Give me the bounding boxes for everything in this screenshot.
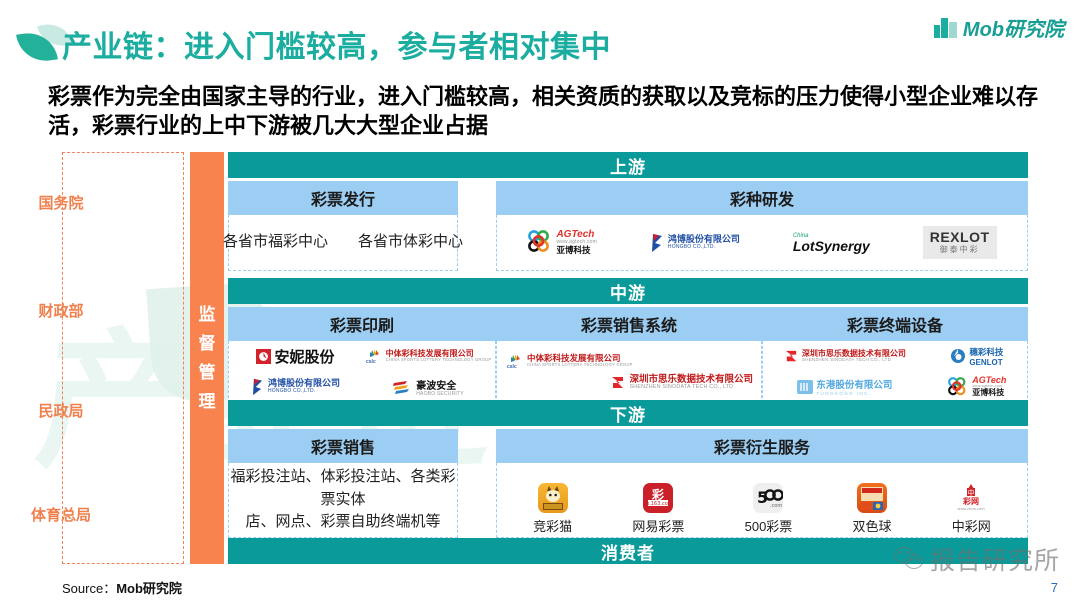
logo-cn-text: 安妮股份 bbox=[274, 346, 334, 367]
logo-en-text: SHENZHEN SINODATA TECH CO., LTD bbox=[802, 358, 906, 363]
svg-text:中: 中 bbox=[968, 488, 975, 497]
supervise-char-3: 管 bbox=[199, 364, 216, 381]
app-netease-lottery: 彩 cp.163.com 网易彩票 bbox=[632, 483, 684, 535]
gov-item-civil-affairs: 民政局 bbox=[0, 400, 122, 421]
supervision-bar: 监 督 管 理 bbox=[190, 152, 224, 564]
agtech-rings-icon bbox=[527, 230, 553, 254]
app-jingcaimao: 竞彩猫 bbox=[533, 483, 572, 535]
wechat-icon bbox=[894, 547, 924, 571]
panel-title: 彩票发行 bbox=[228, 181, 458, 215]
agtech-rings-icon bbox=[947, 377, 969, 397]
chain-columns: 上游 彩票发行 各省市福彩中心 各省市体彩中心 彩种研发 bbox=[228, 152, 1028, 564]
logo-agtech-terminal: AGTech www.agtech.com 亚博科技 bbox=[947, 376, 1006, 397]
logo-en-text: HONGBO CO.,LTD. bbox=[668, 245, 740, 250]
supervise-char-4: 理 bbox=[199, 393, 216, 410]
genlot-icon bbox=[950, 348, 966, 364]
svg-text:cslc: cslc bbox=[507, 364, 517, 369]
panel-title: 彩票销售 bbox=[228, 429, 458, 463]
logo-cn-text: LotSynergy bbox=[793, 239, 870, 253]
panel-lottery-issuance: 彩票发行 各省市福彩中心 各省市体彩中心 bbox=[228, 181, 458, 271]
logo-cn-text: 御泰中彩 bbox=[940, 244, 980, 255]
logo-tungkong: 东港股份有限公司 TUNGKONG INC. bbox=[797, 377, 892, 396]
tungkong-icon bbox=[797, 380, 813, 394]
logo-cn-text: 豪波安全 bbox=[416, 377, 464, 392]
logo-cn-text: 穗彩科技 bbox=[969, 346, 1003, 358]
panel-lottery-sales: 彩票销售 福彩投注站、体彩投注站、各类彩票实体 店、网点、彩票自助终端机等 bbox=[228, 429, 458, 538]
panel-game-rnd: 彩种研发 AGTech www.agte bbox=[496, 181, 1028, 271]
logo-haobo: 豪波安全 HAOBO SECURITY bbox=[393, 377, 464, 397]
government-bodies-box bbox=[62, 152, 184, 564]
wechat-watermark: 报告研究所 bbox=[894, 541, 1060, 577]
brand-logo: Mob研究院 bbox=[934, 12, 1064, 42]
logo-annie: 安妮股份 bbox=[256, 346, 334, 367]
app-label: 500彩票 bbox=[745, 516, 793, 535]
panel-title: 彩票衍生服务 bbox=[496, 429, 1028, 463]
source-label: Source： bbox=[62, 581, 116, 596]
mob-bar-logo-icon bbox=[934, 16, 958, 38]
zhongcaiwang-app-icon: 中 彩网 www.zhcw.com bbox=[956, 483, 986, 513]
haobo-icon bbox=[393, 379, 413, 395]
logo-en-text: REXLOT bbox=[930, 230, 990, 245]
logo-agtech: AGTech www.agtech.com 亚博科技 bbox=[527, 230, 597, 254]
hongbo-flag-icon bbox=[650, 232, 665, 254]
500-lottery-app-icon: 5 .com bbox=[753, 483, 783, 513]
band-upstream: 上游 bbox=[228, 152, 1028, 178]
brand-name: Mob研究院 bbox=[963, 13, 1064, 42]
issuance-item-welfare: 各省市福彩中心 bbox=[223, 231, 328, 254]
leaf-decoration-icon bbox=[18, 24, 64, 58]
app-zhongcaiwang: 中 彩网 www.zhcw.com 中彩网 bbox=[952, 483, 991, 535]
sales-line-2: 店、网点、彩票自助终端机等 bbox=[229, 511, 457, 534]
app-label: 双色球 bbox=[853, 516, 892, 535]
hongbo-flag-icon bbox=[251, 377, 265, 397]
sinodata-icon bbox=[784, 349, 799, 364]
svg-text:彩网: 彩网 bbox=[962, 496, 979, 506]
logo-cslc-printing: cslc 中体彩科技发展有限公司 CHINA SPORTS LOTTERY TE… bbox=[366, 348, 492, 364]
logo-sinodata-system: 深圳市思乐数据技术有限公司 SHENZHEN SINODATA TECH CO.… bbox=[610, 375, 753, 391]
netease-lottery-app-icon: 彩 cp.163.com bbox=[643, 483, 673, 513]
app-label: 中彩网 bbox=[952, 516, 991, 535]
svg-text:.com: .com bbox=[770, 503, 782, 509]
source-value: Mob研究院 bbox=[116, 581, 182, 596]
app-500-lottery: 5 .com 500彩票 bbox=[745, 483, 793, 535]
svg-text:cp.163.com: cp.163.com bbox=[644, 501, 673, 507]
panel-sales-system: 彩票销售系统 cslc 中体彩科技发展有限公司 CHINA SP bbox=[496, 307, 762, 403]
page-number: 7 bbox=[1051, 580, 1058, 595]
logo-cn-text: 亚博科技 bbox=[556, 246, 597, 255]
sales-line-1: 福彩投注站、体彩投注站、各类彩票实体 bbox=[229, 466, 457, 511]
panel-terminal-equipment: 彩票终端设备 深圳市思乐数据技术有限公司 SHENZHEN SINODATA T… bbox=[762, 307, 1028, 403]
logo-en-text: HAOBO SECURITY bbox=[416, 392, 464, 397]
panel-derivative-services: 彩票衍生服务 竞彩猫 bbox=[496, 429, 1028, 538]
app-shuangseqiu: 双色球 bbox=[853, 483, 892, 535]
logo-en-text: CHINA SPORTS LOTTERY TECHNOLOGY GROUP bbox=[527, 363, 633, 367]
issuance-item-sports: 各省市体彩中心 bbox=[358, 231, 463, 254]
logo-hongbo-printing: 鸿博股份有限公司 HONGBO CO.,LTD. bbox=[251, 377, 340, 397]
logo-en-text: GENLOT bbox=[969, 358, 1003, 367]
slide-header: 产业链：进入门槛较高，参与者相对集中 Mob研究院 bbox=[0, 0, 1080, 72]
panel-lottery-printing: 彩票印刷 安妮股份 bbox=[228, 307, 496, 403]
gov-item-state-council: 国务院 bbox=[0, 192, 122, 213]
gov-item-finance-ministry: 财政部 bbox=[0, 300, 122, 321]
annie-icon bbox=[256, 349, 271, 364]
logo-rexlot: REXLOT 御泰中彩 bbox=[923, 226, 997, 260]
panel-title: 彩票销售系统 bbox=[496, 307, 762, 341]
band-midstream: 中游 bbox=[228, 278, 1028, 304]
shuangseqiu-app-icon bbox=[857, 483, 887, 513]
logo-cn-text: 东港股份有限公司 bbox=[816, 377, 892, 391]
watermark-text: 报告研究所 bbox=[930, 541, 1060, 577]
industry-chain-diagram: 国务院 财政部 民政局 体育总局 监 督 管 理 上游 彩票发行 各省市福彩中心… bbox=[0, 152, 1080, 564]
sinodata-icon bbox=[610, 375, 626, 391]
gov-item-sports-admin: 体育总局 bbox=[0, 504, 122, 525]
band-downstream: 下游 bbox=[228, 400, 1028, 426]
cslc-icon: cslc bbox=[366, 348, 383, 364]
page-title: 产业链：进入门槛较高，参与者相对集中 bbox=[62, 22, 611, 66]
panel-title: 彩票印刷 bbox=[228, 307, 496, 341]
panel-title: 彩种研发 bbox=[496, 181, 1028, 215]
svg-text:彩: 彩 bbox=[651, 487, 664, 502]
app-label: 网易彩票 bbox=[632, 516, 684, 535]
source-note: Source：Mob研究院 bbox=[62, 578, 182, 597]
supervise-char-2: 督 bbox=[199, 335, 216, 352]
svg-text:www.zhcw.com: www.zhcw.com bbox=[958, 507, 986, 511]
logo-sinodata-terminal: 深圳市思乐数据技术有限公司 SHENZHEN SINODATA TECH CO.… bbox=[784, 349, 906, 364]
logo-en-text: SHENZHEN SINODATA TECH CO., LTD bbox=[629, 385, 753, 391]
logo-lotsynergy: China LotSynergy bbox=[793, 233, 870, 253]
subtitle-text: 彩票作为完全由国家主导的行业，进入门槛较高，相关资质的获取以及竞标的压力使得小型… bbox=[48, 82, 1048, 140]
panel-title: 彩票终端设备 bbox=[762, 307, 1028, 341]
jingcaimao-app-icon bbox=[538, 483, 568, 513]
logo-genlot: 穗彩科技 GENLOT bbox=[950, 346, 1003, 367]
supervise-char-1: 监 bbox=[199, 306, 216, 323]
svg-text:cslc: cslc bbox=[366, 359, 376, 364]
logo-hongbo: 鸿博股份有限公司 HONGBO CO.,LTD. bbox=[650, 232, 740, 254]
app-label: 竞彩猫 bbox=[533, 516, 572, 535]
logo-en-text: TUNGKONG INC. bbox=[816, 391, 892, 396]
logo-cslc-system: cslc 中体彩科技发展有限公司 CHINA SPORTS LOTTERY TE… bbox=[507, 353, 633, 369]
cslc-icon: cslc bbox=[507, 353, 524, 369]
logo-en-text: CHINA SPORTS LOTTERY TECHNOLOGY GROUP bbox=[386, 358, 492, 362]
logo-cn-text: 亚博科技 bbox=[972, 389, 1006, 397]
logo-en-text: HONGBO CO.,LTD. bbox=[268, 389, 340, 394]
